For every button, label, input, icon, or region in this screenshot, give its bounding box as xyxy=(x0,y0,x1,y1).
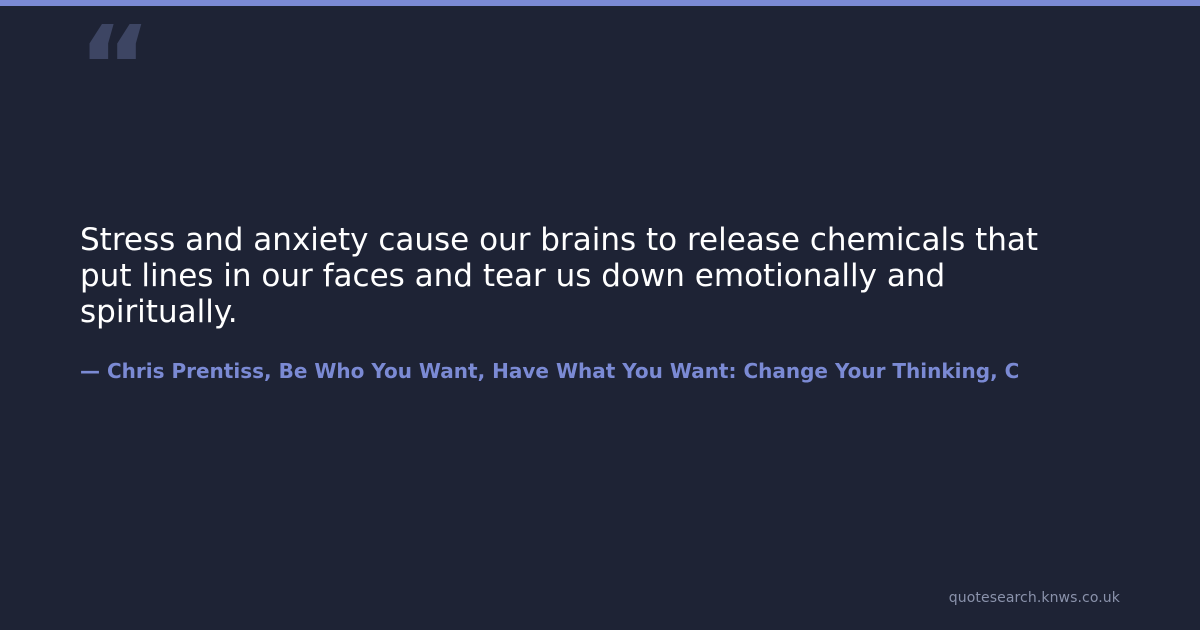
quote-attribution: — Chris Prentiss, Be Who You Want, Have … xyxy=(80,357,1200,385)
top-accent-bar xyxy=(0,0,1200,6)
quote-content: Stress and anxiety cause our brains to r… xyxy=(80,222,1200,330)
quote-card: “ Stress and anxiety cause our brains to… xyxy=(0,0,1200,630)
quote-text: Stress and anxiety cause our brains to r… xyxy=(80,222,1090,330)
site-watermark: quotesearch.knws.co.uk xyxy=(949,590,1120,606)
open-quote-icon: “ xyxy=(78,12,150,124)
attribution-container: — Chris Prentiss, Be Who You Want, Have … xyxy=(80,357,1200,387)
